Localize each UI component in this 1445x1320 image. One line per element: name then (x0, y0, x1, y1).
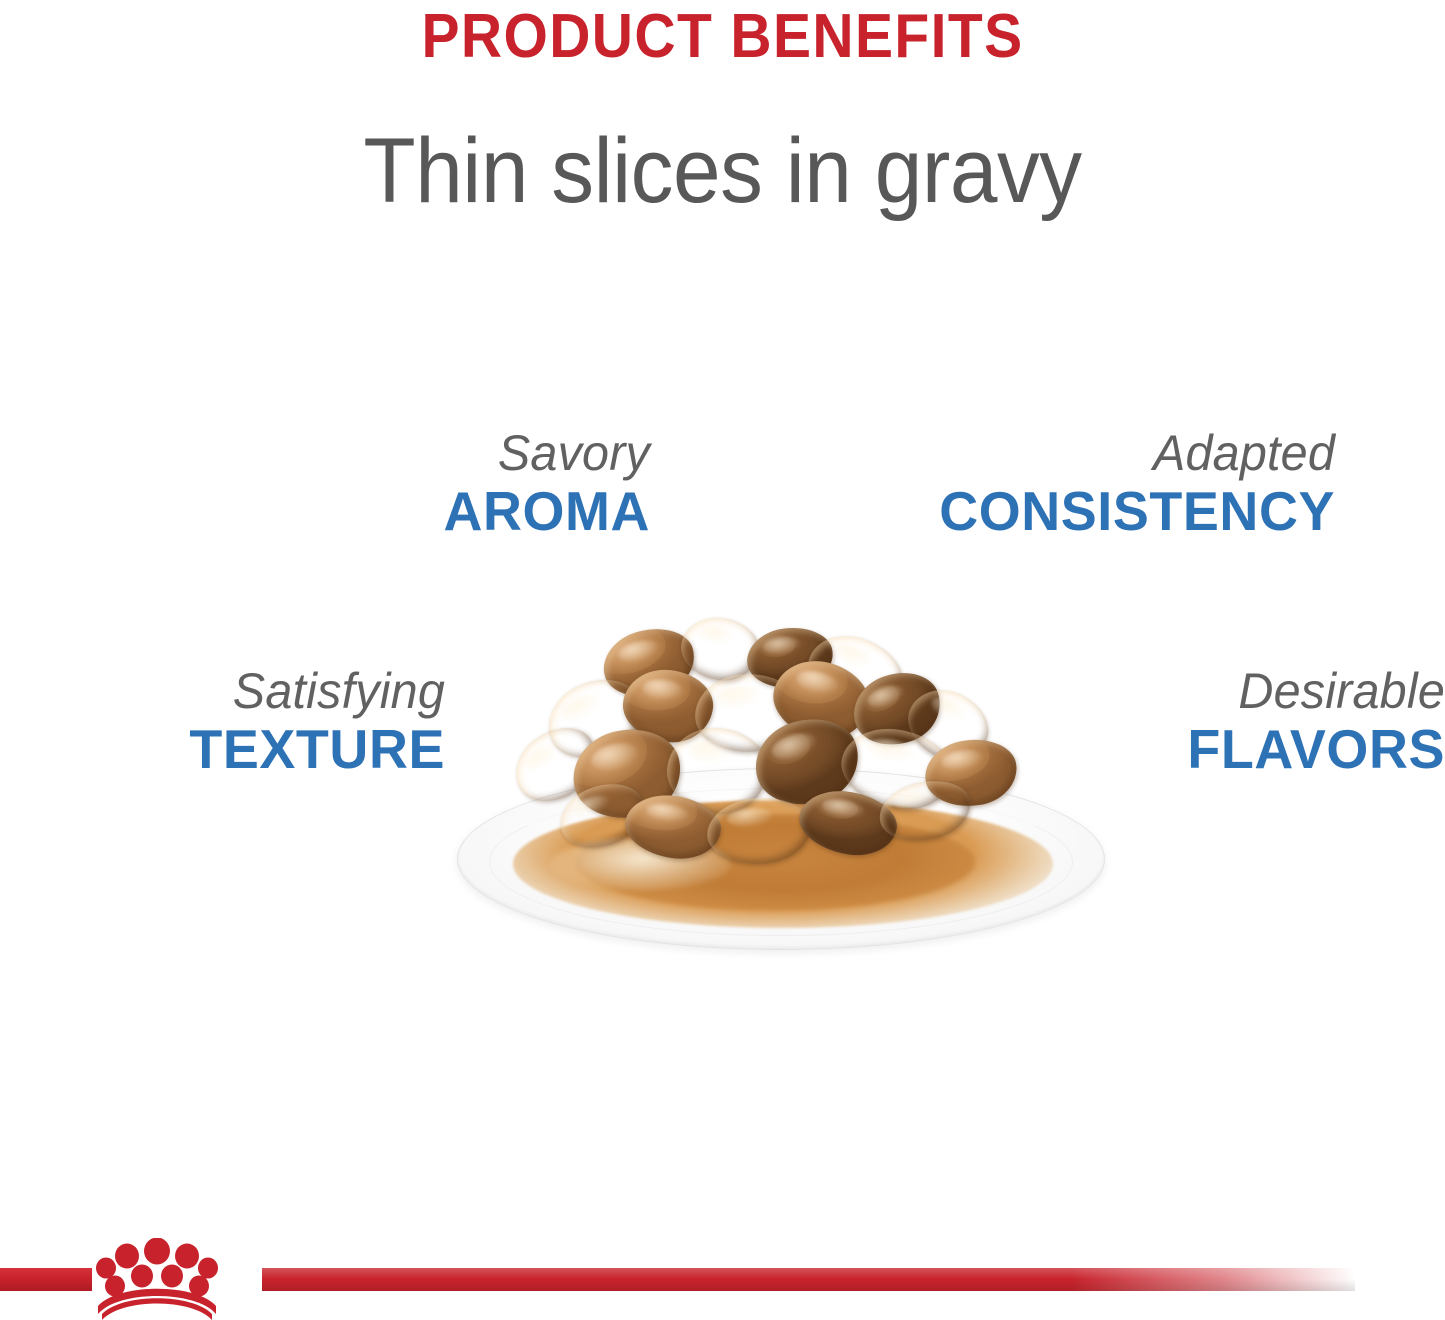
food-chunk-pile (455, 600, 1105, 955)
page-eyebrow: PRODUCT BENEFITS (58, 6, 1387, 68)
product-benefits-panel: PRODUCT BENEFITS Thin slices in gravy Sa… (0, 0, 1445, 1320)
product-photo (455, 600, 1105, 955)
page-title: Thin slices in gravy (51, 125, 1395, 217)
footer-rule-left (0, 1268, 92, 1291)
benefit-texture-adjective: Satisfying (52, 666, 445, 717)
benefit-consistency-adjective: Adapted (826, 428, 1335, 479)
benefit-texture-noun: TEXTURE (48, 721, 445, 777)
benefit-aroma-adjective: Savory (272, 428, 650, 479)
benefit-consistency: Adapted CONSISTENCY (810, 428, 1335, 539)
benefit-texture: Satisfying TEXTURE (40, 666, 445, 777)
benefit-aroma-noun: AROMA (268, 483, 650, 539)
footer-rule-right (262, 1268, 1355, 1291)
benefit-consistency-noun: CONSISTENCY (821, 483, 1336, 539)
benefit-aroma: Savory AROMA (260, 428, 650, 539)
royal-canin-crown-icon (96, 1238, 218, 1320)
